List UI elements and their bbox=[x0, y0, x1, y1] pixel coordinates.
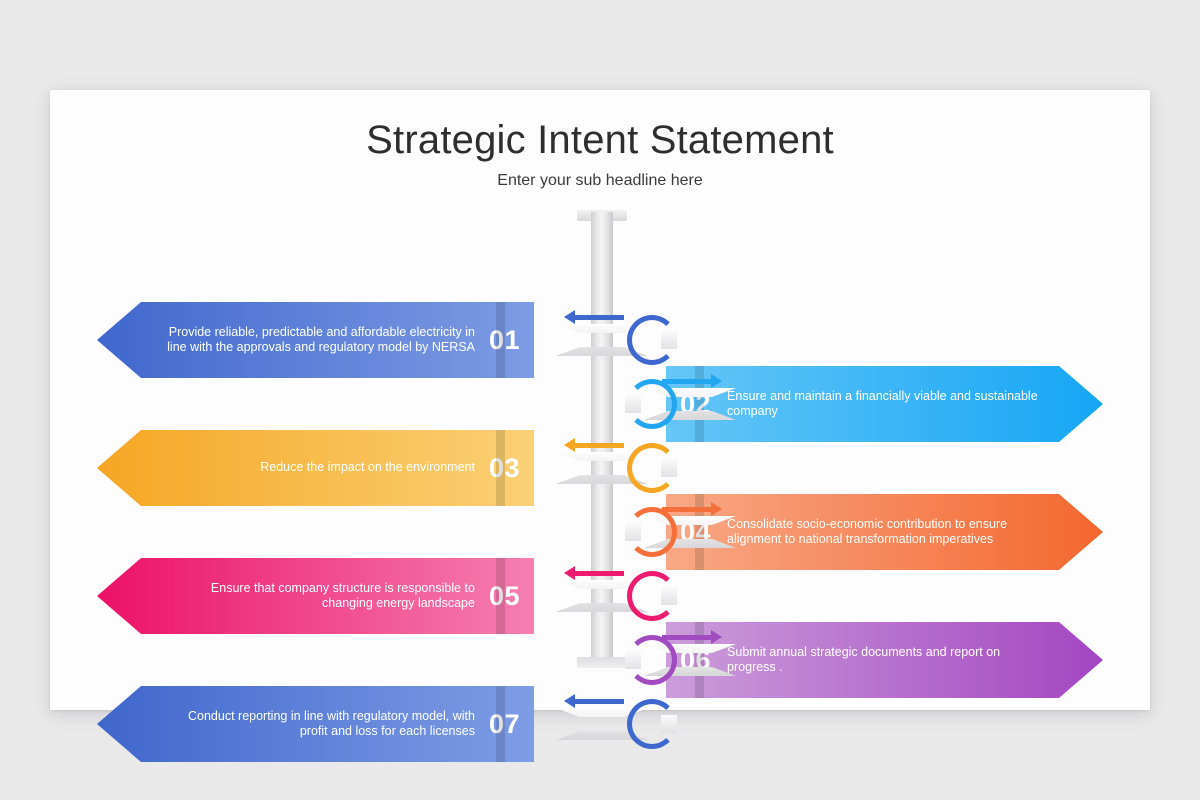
step-description: Submit annual strategic documents and re… bbox=[727, 645, 1039, 676]
step-description: Reduce the impact on the environment bbox=[260, 460, 475, 476]
step-bar-07[interactable]: Conduct reporting in line with regulator… bbox=[97, 686, 534, 762]
step-description: Conduct reporting in line with regulator… bbox=[163, 709, 475, 740]
step-description: Provide reliable, predictable and afford… bbox=[163, 325, 475, 356]
ring-plug bbox=[661, 459, 677, 477]
arrow-left-icon bbox=[574, 315, 624, 320]
step-description: Ensure and maintain a financially viable… bbox=[727, 389, 1039, 420]
page-subtitle: Enter your sub headline here bbox=[50, 172, 1150, 190]
step-description: Ensure that company structure is respons… bbox=[163, 581, 475, 612]
ring-plug bbox=[661, 587, 677, 605]
ring-plug bbox=[625, 651, 641, 669]
arrow-left-icon bbox=[574, 443, 624, 448]
slide-canvas: Strategic Intent Statement Enter your su… bbox=[50, 90, 1150, 710]
step-row: Conduct reporting in line with regulator… bbox=[50, 686, 1150, 762]
arrow-right-icon bbox=[662, 379, 712, 384]
arrow-right-icon bbox=[662, 507, 712, 512]
ring-plug bbox=[661, 715, 677, 733]
step-description: Consolidate socio-economic contribution … bbox=[727, 517, 1039, 548]
page-title: Strategic Intent Statement bbox=[50, 118, 1150, 163]
arrow-right-icon bbox=[662, 635, 712, 640]
arrow-left-icon bbox=[574, 571, 624, 576]
ring-plug bbox=[625, 395, 641, 413]
ring-plug bbox=[625, 523, 641, 541]
bar-notch bbox=[496, 686, 505, 762]
ring-plug bbox=[661, 331, 677, 349]
arrow-left-icon bbox=[574, 699, 624, 704]
